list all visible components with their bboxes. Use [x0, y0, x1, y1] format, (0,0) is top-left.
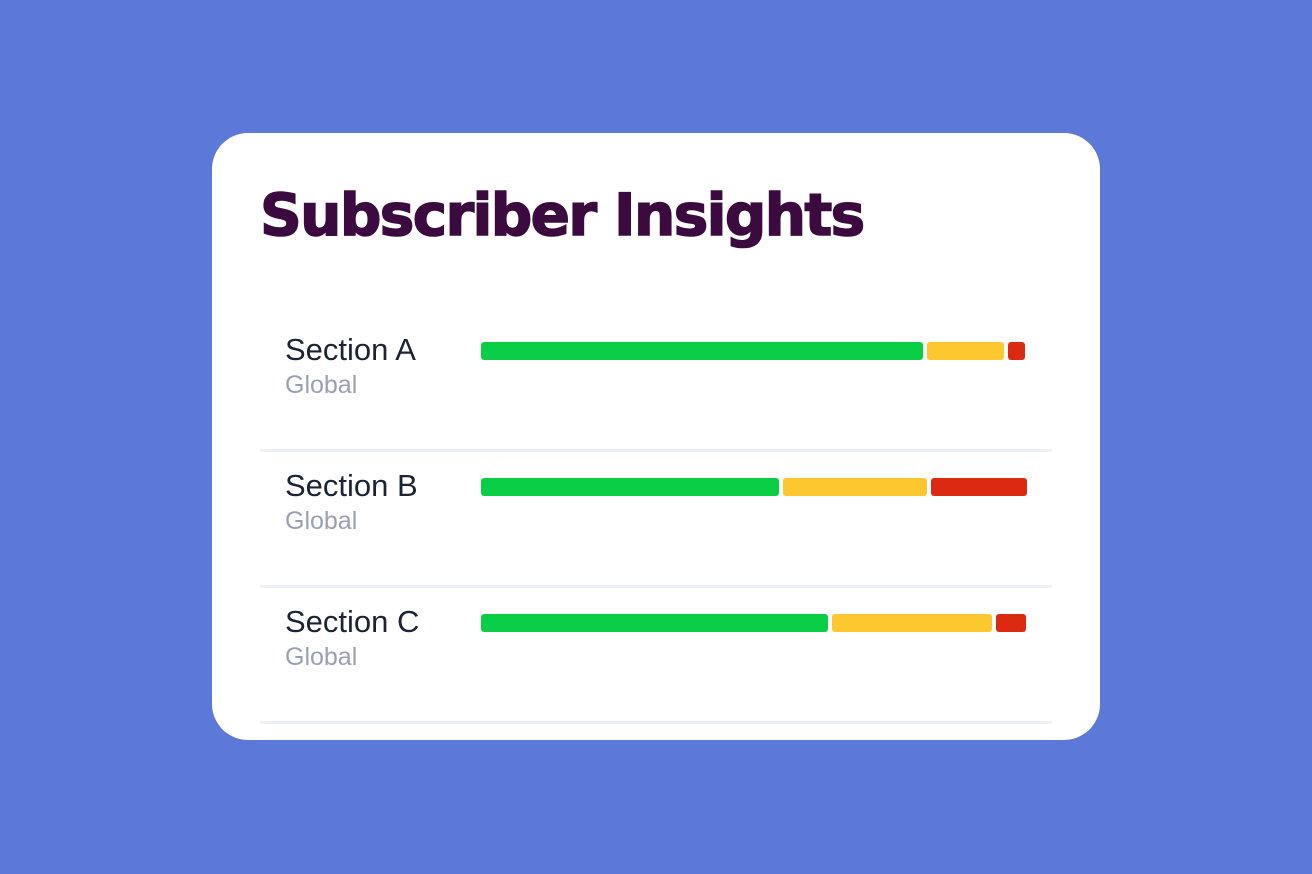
- row-label-group: Section B Global: [285, 467, 475, 537]
- bar-segment-yellow: [927, 342, 1004, 360]
- list-item[interactable]: Section C Global: [260, 588, 1052, 724]
- section-list: Section A Global Section B Global: [260, 316, 1052, 724]
- bar-segment-red: [996, 614, 1026, 632]
- section-name: Section B: [285, 467, 475, 505]
- bar-segment-yellow: [832, 614, 992, 632]
- subscriber-insights-card: Subscriber Insights Section A Global Sec…: [212, 133, 1100, 740]
- row-label-group: Section A Global: [285, 331, 475, 401]
- bar-segment-yellow: [783, 478, 927, 496]
- page-background: Subscriber Insights Section A Global Sec…: [0, 0, 1312, 874]
- bar-segment-red: [1008, 342, 1025, 360]
- bar-segment-green: [481, 478, 779, 496]
- list-item[interactable]: Section B Global: [260, 452, 1052, 588]
- page-title: Subscriber Insights: [260, 184, 864, 246]
- section-scope: Global: [285, 641, 475, 673]
- bar-segment-green: [481, 342, 923, 360]
- section-name: Section C: [285, 603, 475, 641]
- stacked-bar: [481, 614, 1027, 632]
- row-label-group: Section C Global: [285, 603, 475, 673]
- bar-segment-green: [481, 614, 828, 632]
- bar-segment-red: [931, 478, 1027, 496]
- row-divider: [260, 721, 1052, 724]
- section-name: Section A: [285, 331, 475, 369]
- list-item[interactable]: Section A Global: [260, 316, 1052, 452]
- stacked-bar: [481, 342, 1027, 360]
- stacked-bar: [481, 478, 1027, 496]
- section-scope: Global: [285, 369, 475, 401]
- section-scope: Global: [285, 505, 475, 537]
